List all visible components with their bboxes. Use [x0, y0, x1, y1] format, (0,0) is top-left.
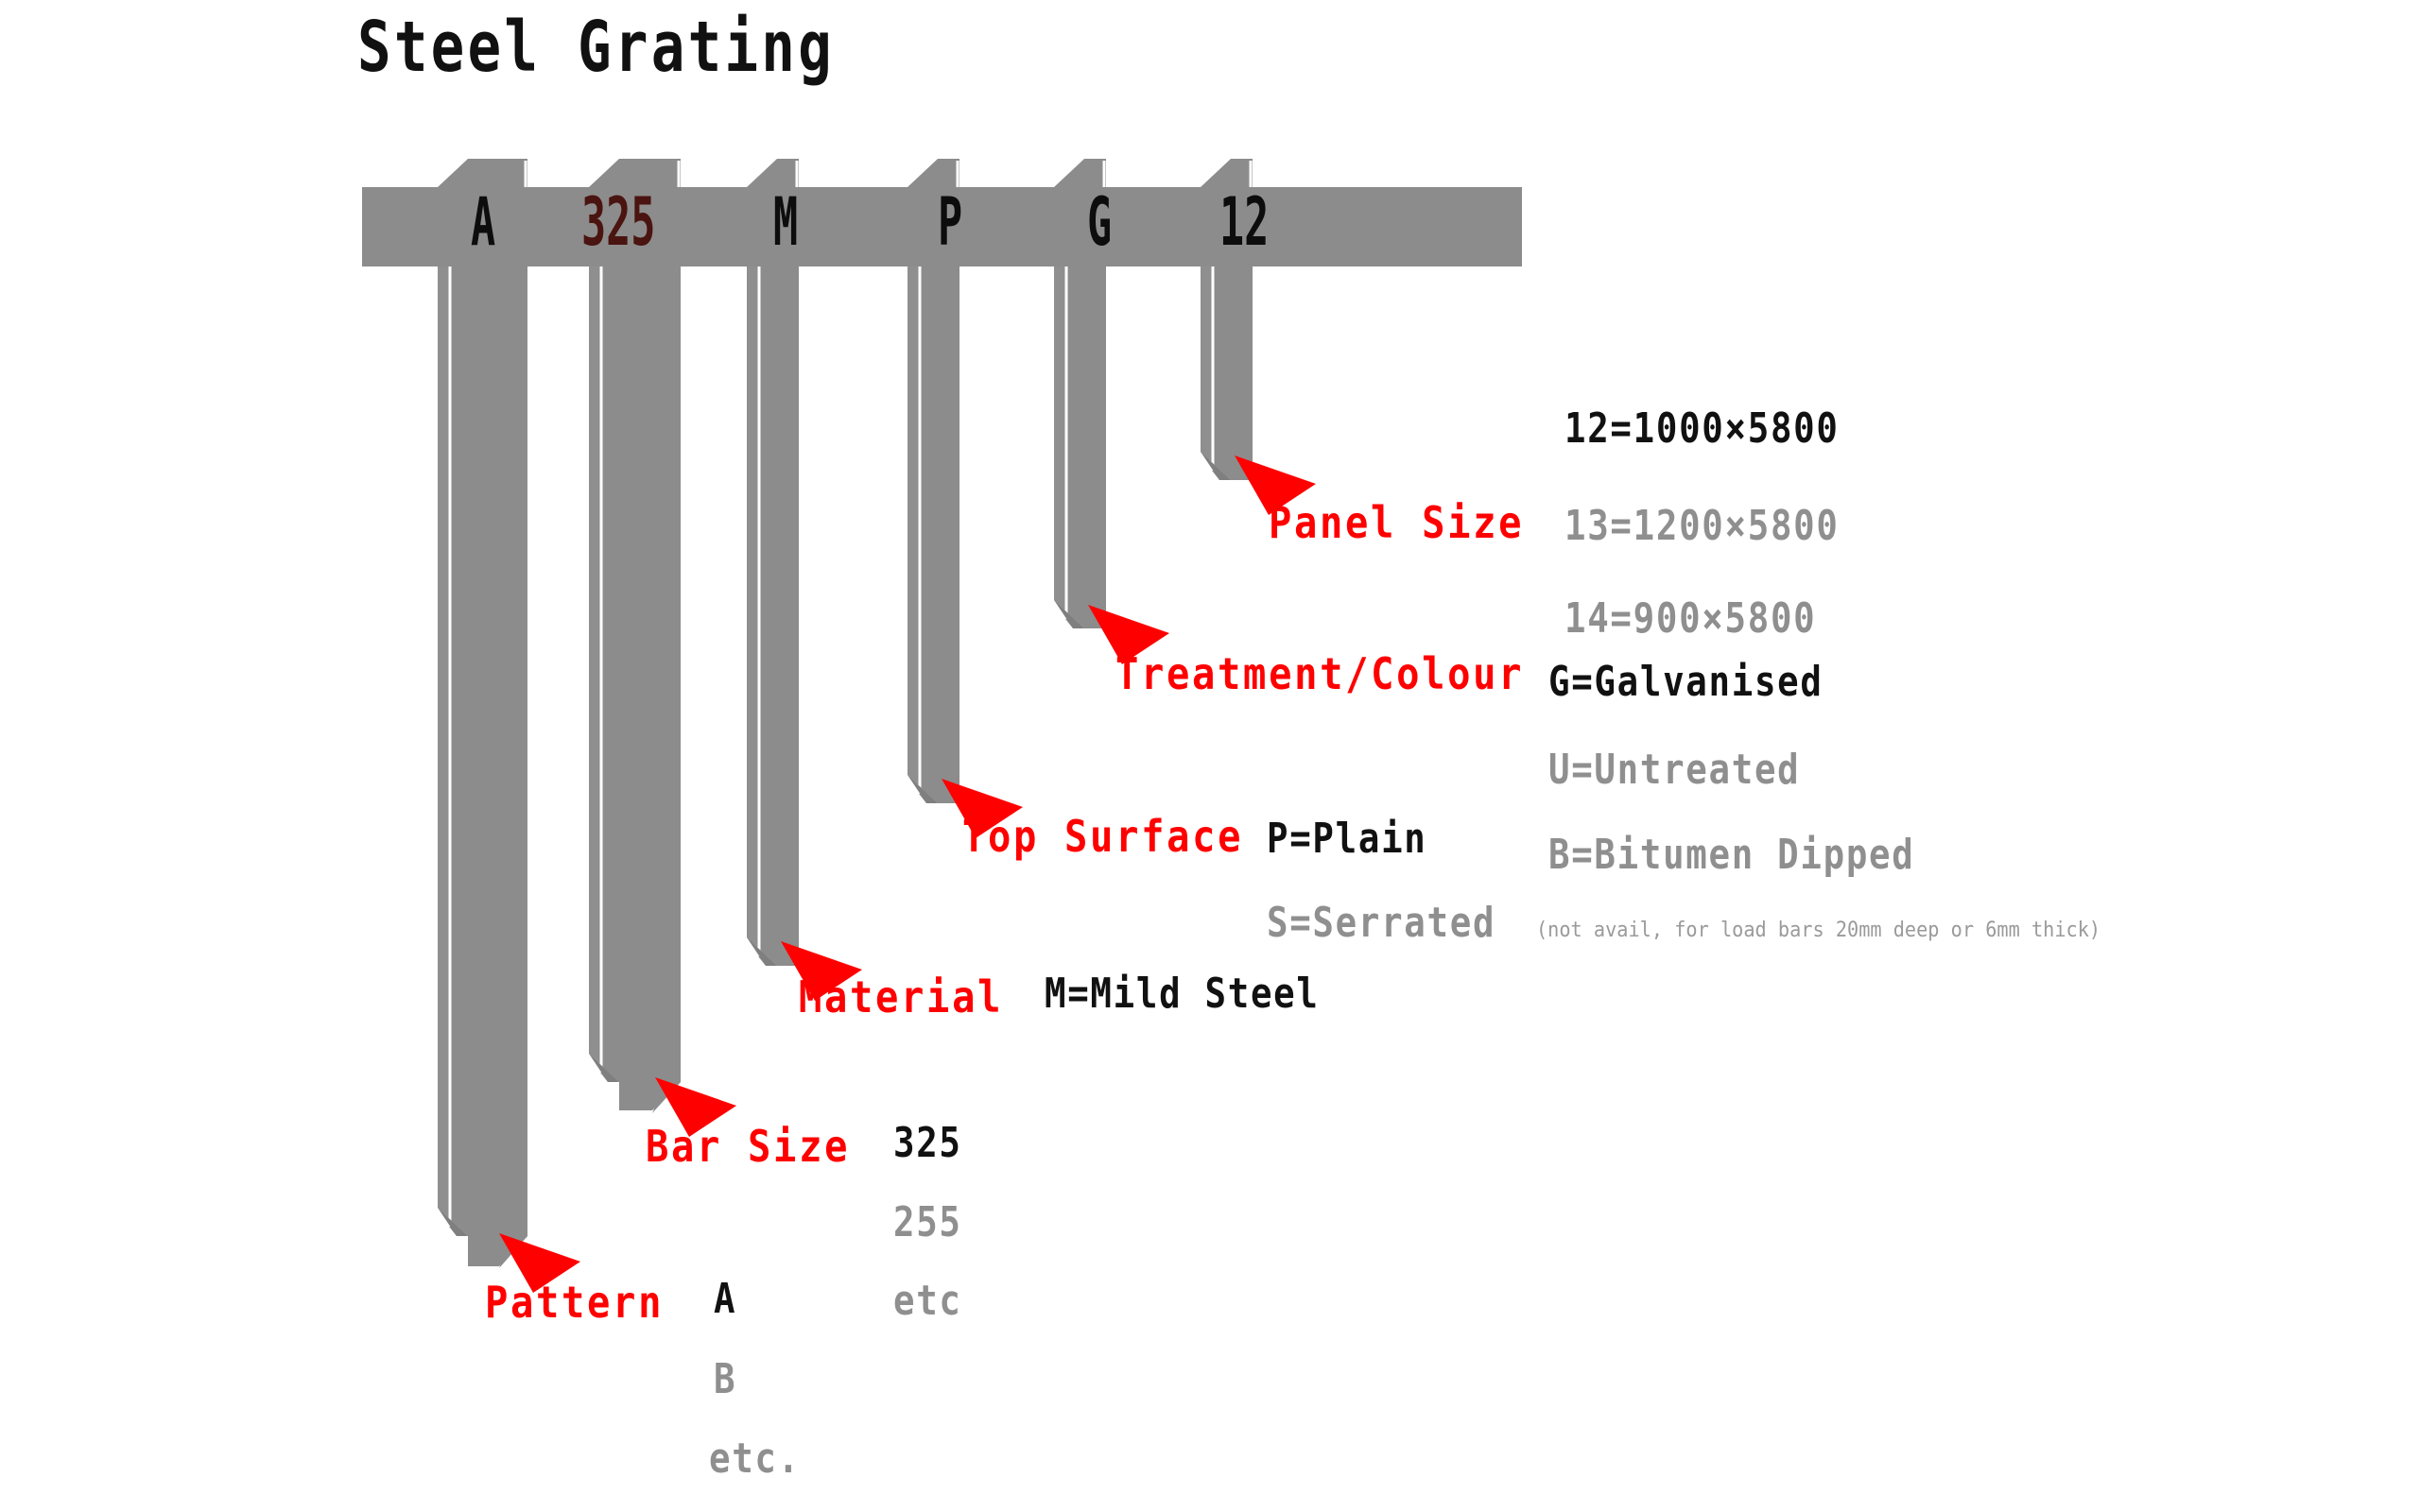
option-panel-size-14: 14=900×5800 [1564, 598, 1816, 640]
option-treatment-b: B=Bitumen Dipped [1548, 834, 1914, 876]
code-char-material: M [773, 189, 798, 255]
option-treatment-s: S=Serrated [1267, 902, 1495, 944]
callout-label-treatment-colour: Treatment/Colour [1115, 652, 1524, 696]
ribbon-bar-size [589, 187, 681, 1113]
option-treatment-g: G=Galvanised [1548, 661, 1824, 703]
callout-label-pattern: Pattern [485, 1280, 664, 1324]
option-bar-size-etc: etc [893, 1280, 962, 1322]
option-treatment-s-note: (not avail, for load bars 20mm deep or 6… [1536, 920, 2100, 941]
option-pattern-a: A [714, 1279, 736, 1320]
code-char-pattern: A [471, 189, 495, 255]
code-char-bar-size: 325 [581, 189, 655, 255]
option-pattern-b: B [714, 1359, 736, 1400]
option-material-m: M=Mild Steel [1045, 973, 1320, 1015]
code-char-panel-size: 12 [1219, 189, 1269, 255]
diagram-canvas: Steel Grating [0, 0, 2420, 1512]
callout-label-material: Material [799, 975, 1003, 1019]
code-char-treatment: G [1087, 189, 1112, 255]
code-char-top-surface: P [938, 189, 962, 255]
callout-label-panel-size: Panel Size [1269, 501, 1524, 544]
option-panel-size-12: 12=1000×5800 [1564, 408, 1840, 450]
option-treatment-s-group: S=Serrated(not avail, for load bars 20mm… [1267, 902, 2150, 944]
ribbon-material [747, 187, 799, 966]
callout-ribbons-graphic [0, 0, 2420, 1512]
option-bar-size-325: 325 [893, 1123, 962, 1164]
option-treatment-u: U=Untreated [1548, 749, 1800, 791]
callout-label-top-surface: Top Surface [962, 815, 1243, 858]
ribbon-top-surface [907, 187, 959, 803]
option-pattern-etc: etc. [709, 1438, 801, 1480]
option-panel-size-13: 13=1200×5800 [1564, 506, 1840, 547]
ribbon-pattern [438, 187, 527, 1268]
callout-label-bar-size: Bar Size [646, 1125, 850, 1168]
option-bar-size-255: 255 [893, 1202, 962, 1244]
option-surface-p: P=Plain [1267, 818, 1427, 860]
